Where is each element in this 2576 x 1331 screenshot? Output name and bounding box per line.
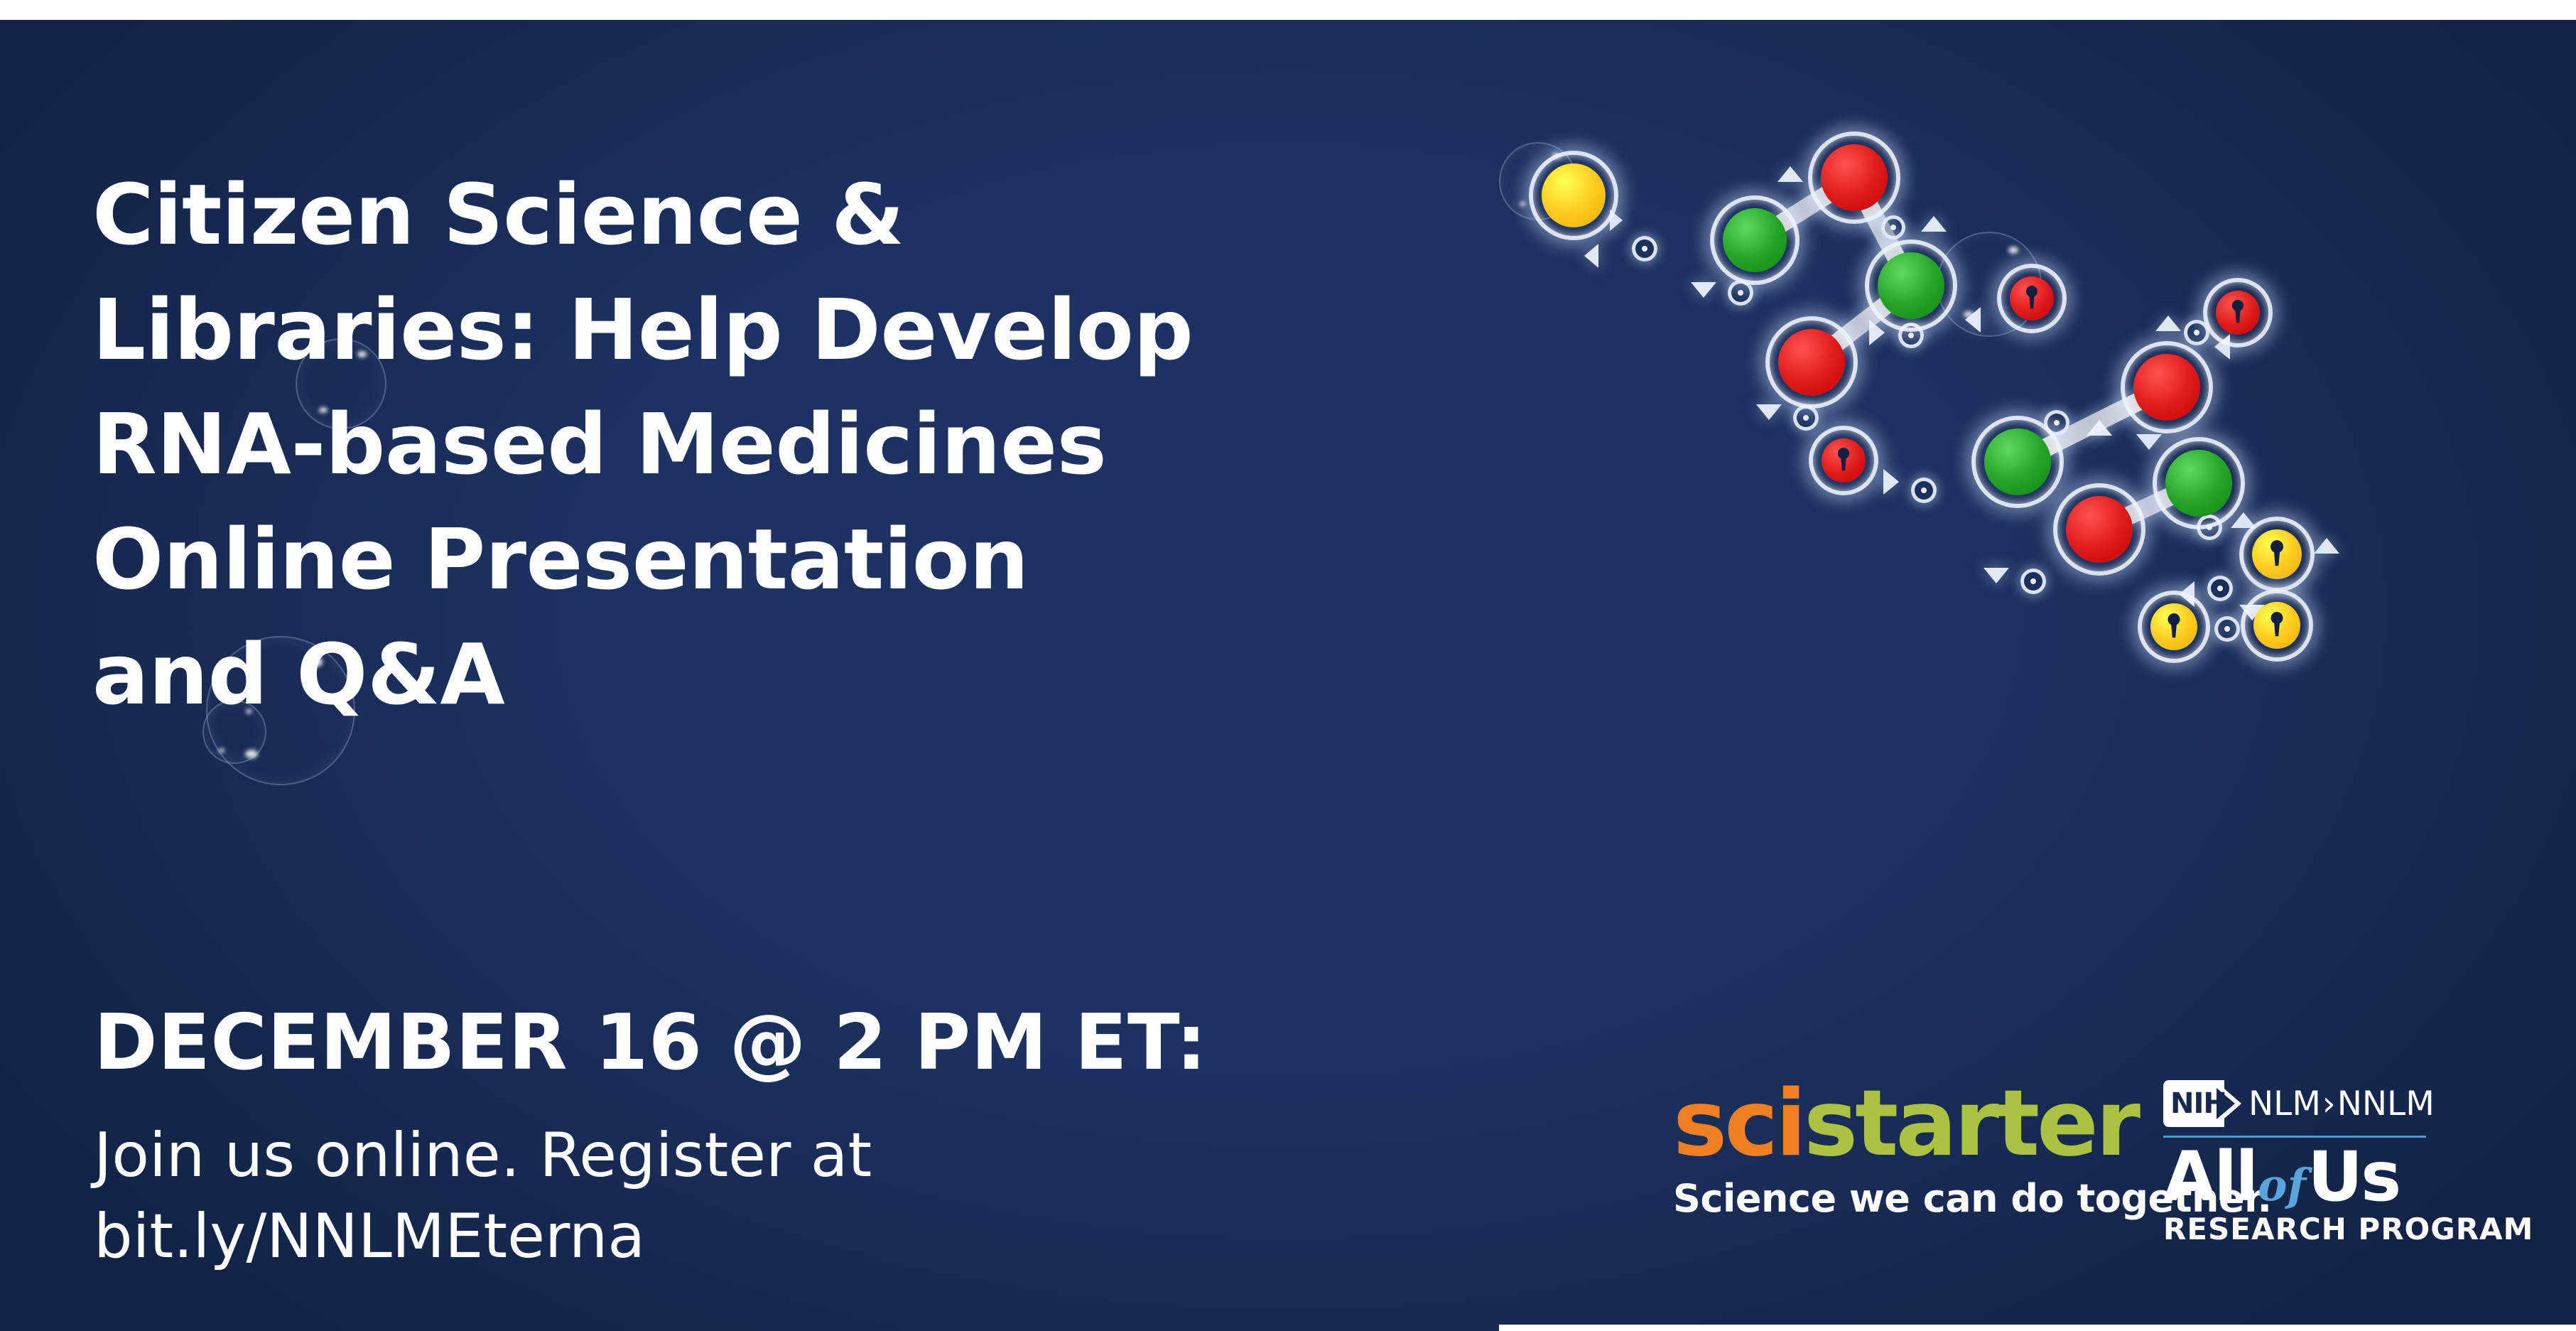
rna-direction-arrow-icon bbox=[2136, 434, 2162, 450]
rna-node-lock-icon bbox=[2157, 608, 2191, 646]
page-title-line: RNA-based Medicines bbox=[92, 387, 1513, 502]
rna-nucleotide-node bbox=[2250, 598, 2304, 652]
rna-direction-arrow-icon bbox=[1756, 404, 1782, 420]
rna-backbone-marker-icon bbox=[1793, 405, 1819, 431]
nnlm-allofus-logo: NIH NLM›NNLM AllofUs RESEARCH PROGRAM bbox=[2163, 1080, 2462, 1246]
rna-nucleotide-node bbox=[2147, 600, 2201, 654]
nih-badge-label: NIH bbox=[2170, 1087, 2226, 1120]
page-title-line: Libraries: Help Develop bbox=[92, 273, 1513, 388]
rna-direction-arrow-icon bbox=[2087, 420, 2112, 436]
rna-node-base bbox=[1878, 252, 1944, 319]
allofus-wordmark: AllofUs bbox=[2163, 1145, 2462, 1209]
rna-backbone-marker-icon bbox=[1632, 236, 1657, 262]
agency-nnlm-label: NNLM bbox=[2337, 1084, 2435, 1123]
rna-direction-arrow-icon bbox=[1691, 282, 1716, 298]
rna-nucleotide-node bbox=[1874, 249, 1948, 323]
rna-direction-arrow-icon bbox=[2314, 538, 2339, 554]
rna-node-lock-icon bbox=[2259, 535, 2295, 574]
rna-node-base bbox=[1542, 163, 1606, 227]
rna-direction-arrow-icon bbox=[2155, 316, 2181, 331]
rna-direction-arrow-icon bbox=[1984, 568, 2009, 583]
rna-node-base bbox=[1984, 429, 2051, 495]
allofus-research-program-label: RESEARCH PROGRAM bbox=[2163, 1212, 2462, 1246]
registration-cta: Join us online. Register atbit.ly/NNLMEt… bbox=[94, 1116, 1159, 1277]
rna-direction-arrow-icon bbox=[1921, 216, 1947, 232]
rna-nucleotide-node bbox=[1817, 141, 1891, 215]
page-title-line: and Q&A bbox=[92, 618, 1513, 733]
rna-node-base bbox=[2133, 354, 2200, 421]
rna-direction-arrow-icon bbox=[1869, 320, 1885, 345]
event-datetime: DECEMBER 16 @ 2 PM ET: bbox=[94, 1005, 1207, 1082]
scistarter-wordmark-sci: sci bbox=[1673, 1071, 1804, 1177]
top-white-band bbox=[0, 0, 2576, 20]
rna-nucleotide-node bbox=[2130, 350, 2204, 424]
rna-backbone-marker-icon bbox=[1881, 215, 1905, 239]
rna-molecule-graphic bbox=[1456, 107, 2415, 959]
rna-node-lock-icon bbox=[2222, 295, 2254, 330]
registration-cta-line: bit.ly/NNLMEterna bbox=[94, 1197, 1159, 1278]
rna-node-base bbox=[2066, 496, 2133, 563]
page-title-line: Online Presentation bbox=[92, 502, 1513, 618]
nih-badge: NIH bbox=[2163, 1080, 2241, 1127]
rna-nucleotide-node bbox=[1981, 425, 2055, 499]
nih-agency-row: NIH NLM›NNLM bbox=[2163, 1080, 2462, 1127]
agency-chain-label: NLM›NNLM bbox=[2248, 1084, 2435, 1123]
page-title-line: Citizen Science & bbox=[92, 158, 1513, 273]
page-title: Citizen Science &Libraries: Help Develop… bbox=[92, 158, 1513, 732]
rna-backbone-marker-icon bbox=[2020, 568, 2046, 594]
rna-node-lock-icon bbox=[2016, 281, 2048, 316]
rna-backbone-marker-icon bbox=[1911, 478, 1937, 503]
rna-node-lock-icon bbox=[2260, 607, 2294, 645]
rna-nucleotide-node bbox=[2248, 526, 2305, 583]
allofus-of: of bbox=[2256, 1159, 2307, 1211]
allofus-us: Us bbox=[2307, 1137, 2399, 1217]
rna-node-base bbox=[1723, 208, 1787, 272]
rna-node-base bbox=[1778, 329, 1845, 396]
rna-node-lock-icon bbox=[1828, 443, 1860, 478]
rna-nucleotide-node bbox=[2006, 273, 2057, 324]
rna-nucleotide-node bbox=[1538, 160, 1609, 231]
rna-direction-arrow-icon bbox=[1584, 244, 1598, 268]
scistarter-wordmark-starter: starter bbox=[1804, 1071, 2138, 1177]
rna-backbone-marker-icon bbox=[2214, 616, 2240, 642]
rna-nucleotide-node bbox=[1818, 435, 1869, 486]
rna-nucleotide-node bbox=[1775, 325, 1849, 399]
poster-canvas: Citizen Science &Libraries: Help Develop… bbox=[0, 0, 2576, 1331]
rna-nucleotide-node bbox=[2062, 492, 2136, 566]
rna-nucleotide-node bbox=[2162, 446, 2236, 520]
agency-nlm-label: NLM bbox=[2248, 1084, 2321, 1123]
bottom-white-band bbox=[1499, 1325, 2576, 1331]
rna-nucleotide-node bbox=[2212, 287, 2263, 338]
rna-nucleotide-node bbox=[1719, 205, 1790, 276]
rna-direction-arrow-icon bbox=[1965, 307, 1981, 333]
allofus-all: All bbox=[2163, 1137, 2256, 1217]
rna-backbone-marker-icon bbox=[2207, 576, 2233, 601]
rna-direction-arrow-icon bbox=[1883, 469, 1899, 495]
registration-cta-line: Join us online. Register at bbox=[94, 1116, 1159, 1197]
chevron-right-icon: › bbox=[2321, 1084, 2337, 1123]
rna-direction-arrow-icon bbox=[1777, 166, 1803, 182]
rna-node-base bbox=[2165, 450, 2232, 517]
rna-node-base bbox=[1821, 144, 1888, 211]
